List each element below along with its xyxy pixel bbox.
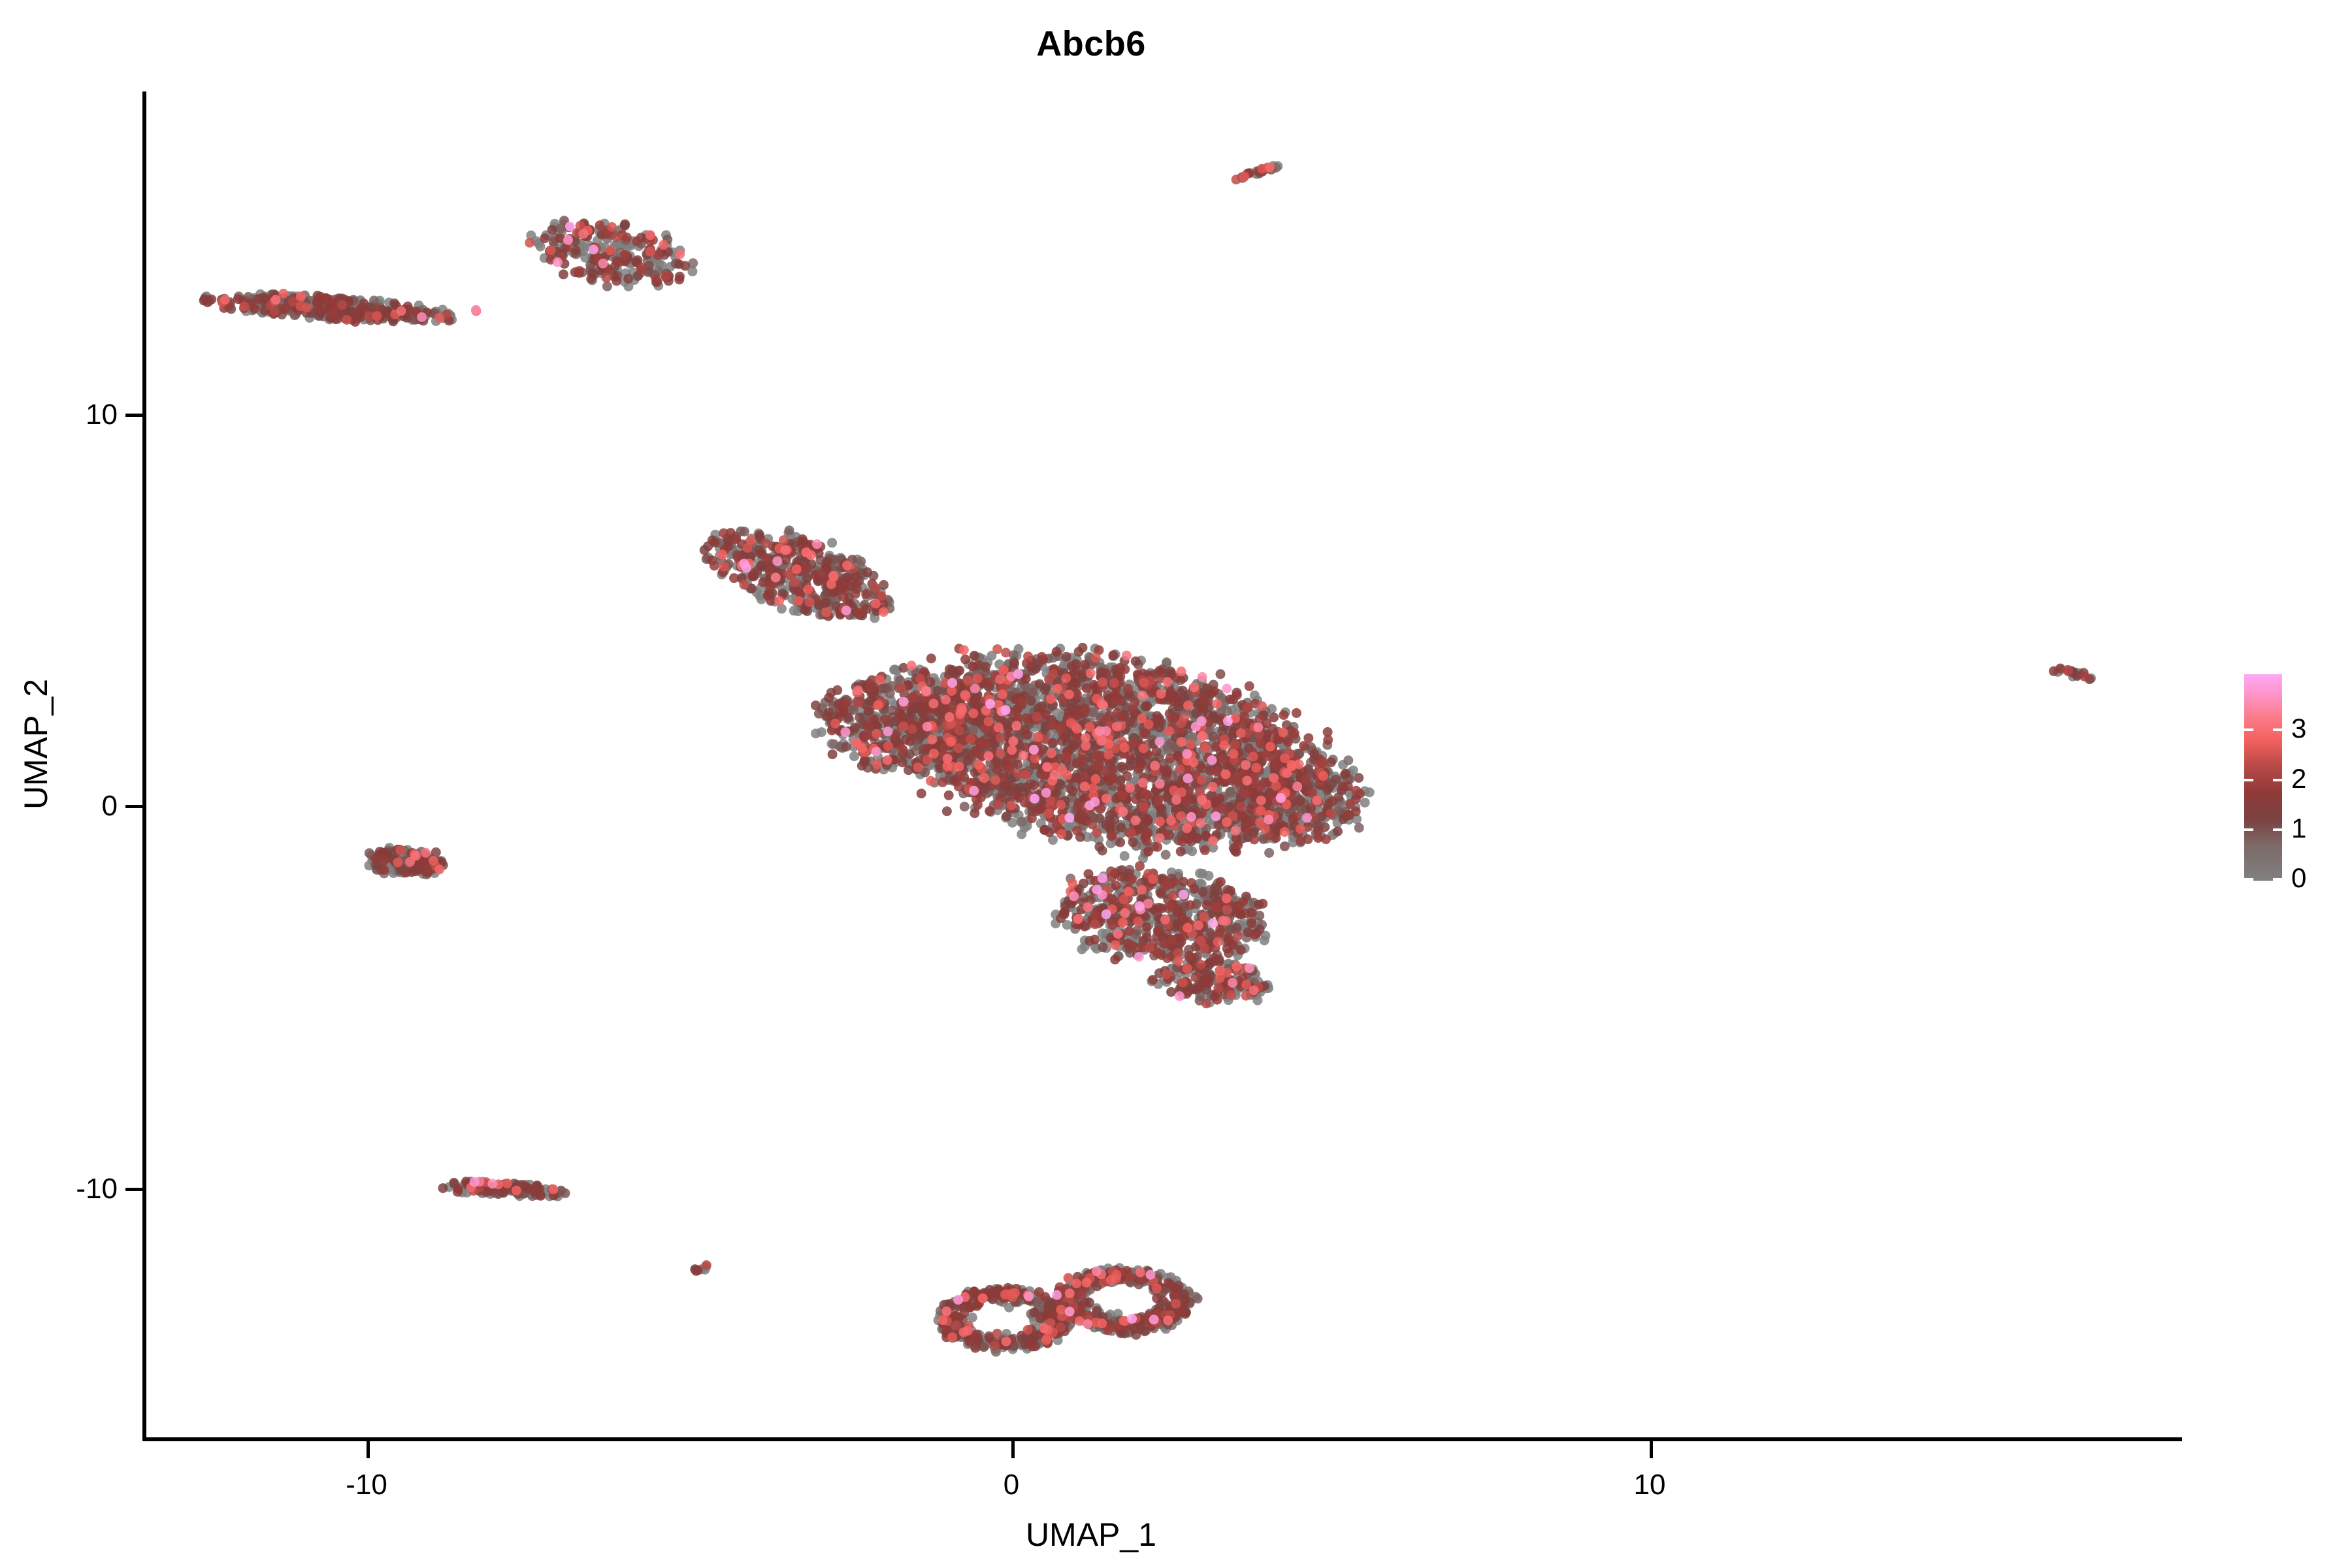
page-title: Abcb6 <box>0 26 2182 61</box>
scatter-points-layer <box>0 0 2352 1568</box>
x-ticklabel--10: -10 <box>301 1469 432 1501</box>
x-tick-10 <box>1650 1441 1653 1458</box>
x-tick--10 <box>367 1441 370 1458</box>
colorbar-tick-3-right <box>2273 728 2282 731</box>
y-tick--10 <box>125 1188 142 1191</box>
x-ticklabel-10: 10 <box>1584 1469 1715 1501</box>
colorbar-label-1: 1 <box>2291 815 2306 842</box>
colorbar-label-3: 3 <box>2291 715 2306 742</box>
x-axis-line <box>142 1437 2182 1441</box>
colorbar-tick-1-right <box>2273 828 2282 831</box>
colorbar-legend[interactable]: 3 2 1 0 <box>2244 674 2282 881</box>
y-axis-title: UMAP_2 <box>17 548 55 940</box>
colorbar-gradient <box>2244 674 2282 881</box>
colorbar-tick-0-right <box>2273 878 2282 881</box>
x-ticklabel-0: 0 <box>946 1469 1077 1501</box>
x-tick-0 <box>1011 1441 1015 1458</box>
colorbar-tick-3-left <box>2244 728 2253 731</box>
colorbar-tick-2-right <box>2273 779 2282 781</box>
plot-root: Abcb6 10 0 -10 -10 0 10 UMAP_1 UMAP_2 <box>0 0 2352 1568</box>
y-tick-0 <box>125 805 142 808</box>
colorbar-tick-0-left <box>2244 878 2253 881</box>
colorbar-label-2: 2 <box>2291 765 2306 792</box>
y-ticklabel-10: 10 <box>39 399 118 431</box>
x-axis-title: UMAP_1 <box>0 1516 2182 1554</box>
colorbar-tick-1-left <box>2244 828 2253 831</box>
colorbar-tick-2-left <box>2244 779 2253 781</box>
y-axis-line <box>142 91 146 1441</box>
y-ticklabel--10: -10 <box>23 1173 118 1205</box>
y-tick-10 <box>125 414 142 417</box>
colorbar-label-0: 0 <box>2291 864 2306 892</box>
